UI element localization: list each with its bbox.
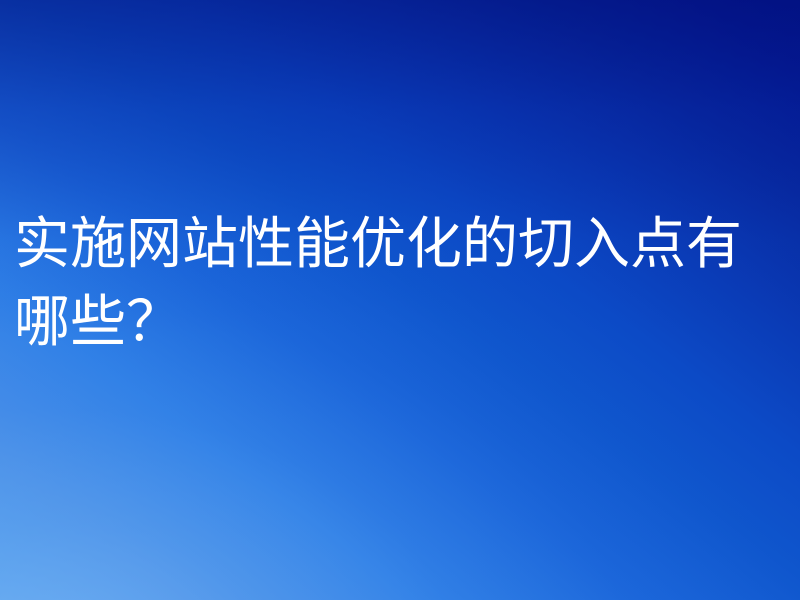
- headline-line-1: 实施网站性能优化的切入点有: [14, 206, 800, 284]
- headline-line-2: 哪些？: [14, 284, 800, 362]
- banner-background: 实施网站性能优化的切入点有 哪些？: [0, 0, 800, 600]
- headline-block: 实施网站性能优化的切入点有 哪些？: [14, 206, 800, 362]
